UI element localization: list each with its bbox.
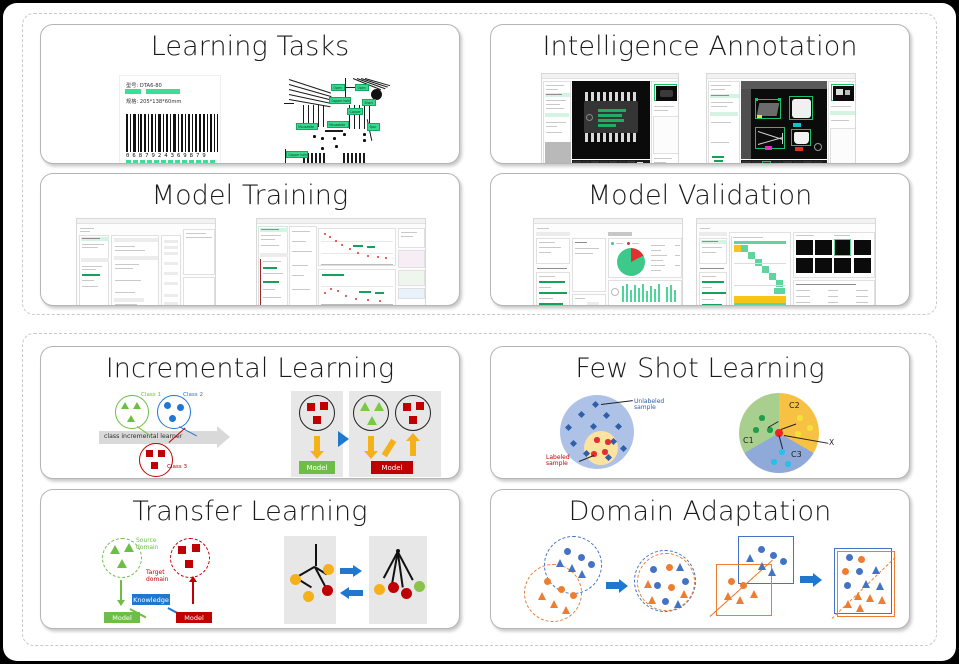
panel-body-domain-adaptation (491, 530, 909, 622)
panel-body-model-validation (491, 214, 909, 299)
panel-title-model-training: Model Training (41, 180, 459, 211)
target-domain-circle (170, 538, 210, 578)
target-model-box: Model (176, 612, 212, 623)
step2-class-circle-red (395, 395, 431, 431)
source-target-alignment-diagram (516, 534, 706, 628)
source-target-knowledge-diagram: Source domain Target domain Knowledge (96, 534, 276, 626)
panel-title-transfer-learning: Transfer Learning (41, 496, 459, 527)
labeled-unlabeled-samples-diagram: Unlabeled sample Labeled sample (546, 391, 696, 477)
panel-title-learning-tasks: Learning Tasks (41, 31, 459, 62)
defect-box-mousebite-2: Mousebite (327, 121, 349, 128)
validation-summary-window (533, 218, 683, 306)
step2-down-arrow (368, 436, 374, 452)
defect-box-copper: Copper (347, 108, 363, 115)
per-class-bar-chart (608, 280, 682, 306)
defect-box-copper-hole-1: Copper hole (329, 97, 351, 104)
panel-body-transfer-learning: Source domain Target domain Knowledge (41, 530, 459, 622)
step1-class-circle (299, 395, 335, 431)
cluster-label-class-2: Class 2 (183, 393, 203, 399)
source-model-box: Model (104, 612, 140, 623)
query-label-x: X (829, 439, 834, 447)
class-incremental-clusters-diagram: class incremental learner Class 1 Class … (97, 393, 287, 475)
step2-up-arrow (410, 440, 416, 456)
defect-box-spur: Spur (367, 123, 380, 131)
chip-annotation-tool-screenshot (541, 73, 679, 164)
defect-box-short: Short (362, 99, 376, 106)
panel-body-learning-tasks: 型号: DTA6-80 规格: 205*138*60mm (41, 65, 459, 157)
scene-annotation-image (741, 81, 827, 159)
pcb-defect-image: Open Open Copper hole Short Copper Mouse… (283, 75, 391, 164)
prototype-classification-pie-diagram: C2 C1 C3 X (721, 391, 871, 477)
barcode-label-ocr-image: 型号: DTA6-80 规格: 205*138*60mm (119, 75, 221, 164)
detail-table (793, 280, 875, 306)
flow-chevron-icon (338, 431, 349, 447)
tree-structure-transfer-diagram (284, 536, 432, 624)
figure-root: Learning Tasks 型号: DTA6-80 规格: 205*138*6… (0, 0, 959, 664)
cluster-class-2 (157, 395, 191, 429)
training-loss-chart (318, 228, 396, 266)
panel-body-model-training (41, 214, 459, 299)
barcode-bars (126, 114, 218, 152)
label-target-domain: Target domain (146, 570, 170, 583)
panel-title-incremental-learning: Incremental Learning (41, 353, 459, 384)
sector-label-c3: C3 (791, 451, 802, 459)
pie-slice-group (617, 248, 645, 276)
sector-label-c1: C1 (743, 437, 754, 445)
training-accuracy-chart (318, 269, 396, 306)
ocr-box-modelvalue (146, 89, 180, 94)
panel-model-validation: Model Validation (490, 173, 910, 306)
label-spec-text: 规格: 205*138*60mm (126, 98, 181, 105)
defect-box-copper-hole-2: Copper hole (286, 151, 308, 158)
panel-body-incremental-learning: class incremental learner Class 1 Class … (41, 387, 459, 472)
panel-domain-adaptation: Domain Adaptation (490, 489, 910, 629)
step2-model-box: Model (371, 461, 413, 474)
label-source-domain: Source domain (136, 538, 162, 551)
training-curves-window (256, 218, 426, 306)
label-unlabeled-sample: Unlabeled sample (634, 399, 672, 412)
part-annotation-tool-screenshot (706, 73, 856, 164)
cluster-class-1 (115, 395, 149, 429)
panel-model-training: Model Training (40, 173, 460, 306)
training-config-window (76, 218, 216, 306)
panel-title-model-validation: Model Validation (491, 180, 909, 211)
sector-label-c2: C2 (789, 402, 800, 410)
knowledge-box: Knowledge (132, 594, 170, 605)
panel-title-few-shot-learning: Few Shot Learning (491, 353, 909, 384)
defect-box-open-2: Open (355, 84, 369, 91)
cluster-class-3 (139, 443, 173, 477)
thumbnail-strip[interactable] (741, 160, 827, 164)
confusion-matrix-window (696, 218, 876, 306)
ocr-box-model (125, 89, 141, 94)
labeled-region (584, 431, 618, 465)
model-update-flow-diagram: Model Model (291, 391, 441, 477)
panel-body-intelligence-annotation (491, 65, 909, 157)
barcode-digits-row: 0687924369879 (126, 153, 218, 163)
cluster-label-class-1: Class 1 (141, 393, 161, 399)
panel-incremental-learning: Incremental Learning class incremental l… (40, 346, 460, 479)
thumbnail-strip[interactable] (572, 160, 650, 164)
boundary-alignment-diagram (706, 534, 901, 628)
cluster-label-class-3: Class 3 (167, 465, 187, 471)
target-box (716, 564, 772, 616)
label-model-text: 型号: DTA6-80 (126, 82, 162, 89)
step1-model-box: Model (299, 461, 335, 474)
pass-fail-pie-chart (608, 238, 682, 278)
panel-title-domain-adaptation: Domain Adaptation (491, 496, 909, 527)
panel-transfer-learning: Transfer Learning Source domain Target d… (40, 489, 460, 629)
confusion-matrix-grid (729, 232, 791, 306)
step2-class-circle-green (353, 395, 389, 431)
defect-box-open-1: Open (331, 84, 345, 91)
sample-image-grid[interactable] (793, 232, 875, 278)
chip-macro-image (572, 81, 650, 159)
panel-intelligence-annotation: Intelligence Annotation (490, 24, 910, 164)
panel-few-shot-learning: Few Shot Learning (490, 346, 910, 479)
step1-down-arrow (314, 436, 320, 452)
defect-box-mousebite-1: Mousebite (296, 123, 318, 130)
panel-learning-tasks: Learning Tasks 型号: DTA6-80 规格: 205*138*6… (40, 24, 460, 164)
panel-title-intelligence-annotation: Intelligence Annotation (491, 31, 909, 62)
panel-body-few-shot-learning: Unlabeled sample Labeled sample C2 C1 C3 (491, 387, 909, 472)
label-labeled-sample: Labeled sample (546, 455, 580, 468)
